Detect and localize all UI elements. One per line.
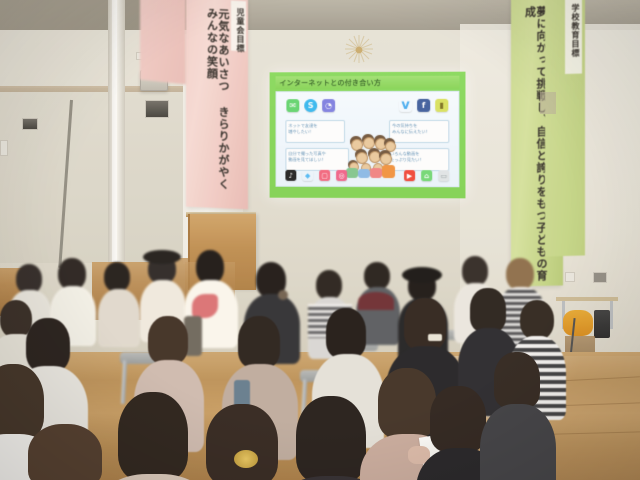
banner-clip	[540, 92, 556, 114]
slide-title-bar: インターネットとの付き合い方	[276, 76, 460, 90]
orange-bag	[563, 310, 593, 336]
tv-icon: ▭	[438, 170, 449, 181]
tiktok-icon: ♪	[285, 170, 296, 181]
side-table	[556, 297, 618, 301]
facebook-icon: f	[417, 99, 430, 112]
projection-screen: インターネットとの付き合い方 ✉ S ◔ ᴠ f ▮ ネットで友達を	[270, 72, 466, 199]
group-of-people-illustration	[346, 132, 398, 178]
callout-bottom-left: 自分で撮った写真や 動画を見てほしい！	[285, 148, 349, 171]
banner-green-secondary: 学校教育目標	[545, 0, 585, 257]
black-case	[594, 310, 610, 338]
slide-icons-top-right: ᴠ f ▮	[399, 99, 448, 112]
youtube-icon: ▶	[404, 170, 415, 181]
metal-column-highlight	[112, 0, 117, 262]
banner-pink-header: 児童会目標	[234, 2, 246, 60]
sunburst-ornament	[343, 33, 375, 65]
skype-icon: S	[304, 99, 317, 112]
kakao-icon: ▮	[435, 99, 448, 112]
messenger-blue-icon: ◆	[302, 170, 313, 181]
slide-icons-bottom-right: ▶ ⌂ ▭	[404, 170, 449, 181]
hair-clip	[234, 450, 258, 468]
messenger-app-icon: ◔	[322, 99, 335, 112]
banner-pink-secondary	[140, 0, 186, 84]
wall-vent-right	[145, 100, 169, 118]
banner-pink-text: 元気なあいさつ きらりかがやく みんなの笑顔	[204, 1, 231, 209]
table-leg-right	[610, 301, 613, 329]
line-green-icon: ⌂	[421, 170, 432, 181]
slide-icons-bottom-left: ♪ ◆ ▢ ◎	[285, 170, 347, 181]
slide-title: インターネットとの付き合い方	[276, 77, 382, 87]
line-icon: ✉	[286, 99, 299, 112]
instagram-icon: ▢	[319, 170, 330, 181]
slide: インターネットとの付き合い方 ✉ S ◔ ᴠ f ▮ ネットで友達を	[270, 72, 466, 199]
slide-icons-top-left: ✉ S ◔	[286, 99, 335, 112]
outlet-right	[593, 272, 607, 283]
presentation-room-photo: 児童会目標 元気なあいさつ きらりかがやく みんなの笑顔 夢に向かって挑戦し、自…	[0, 0, 640, 480]
slide-body: ✉ S ◔ ᴠ f ▮ ネットで友達を 増やしたい！ 今の気持ちを みんな	[276, 91, 460, 187]
twitter-icon: ᴠ	[399, 99, 412, 112]
instagram-alt-icon: ◎	[336, 170, 347, 181]
callout-top-left: ネットで友達を 増やしたい！	[285, 120, 345, 143]
wall-vent	[22, 118, 38, 130]
banner-green-header: 学校教育目標	[569, 0, 581, 64]
callout-top-right: 今の気持ちを みんなに伝えたい！	[389, 120, 449, 143]
banner-pink: 児童会目標 元気なあいさつ きらりかがやく みんなの笑顔	[186, 0, 248, 209]
wall-plate-left	[0, 140, 8, 156]
switch-right	[565, 272, 575, 282]
